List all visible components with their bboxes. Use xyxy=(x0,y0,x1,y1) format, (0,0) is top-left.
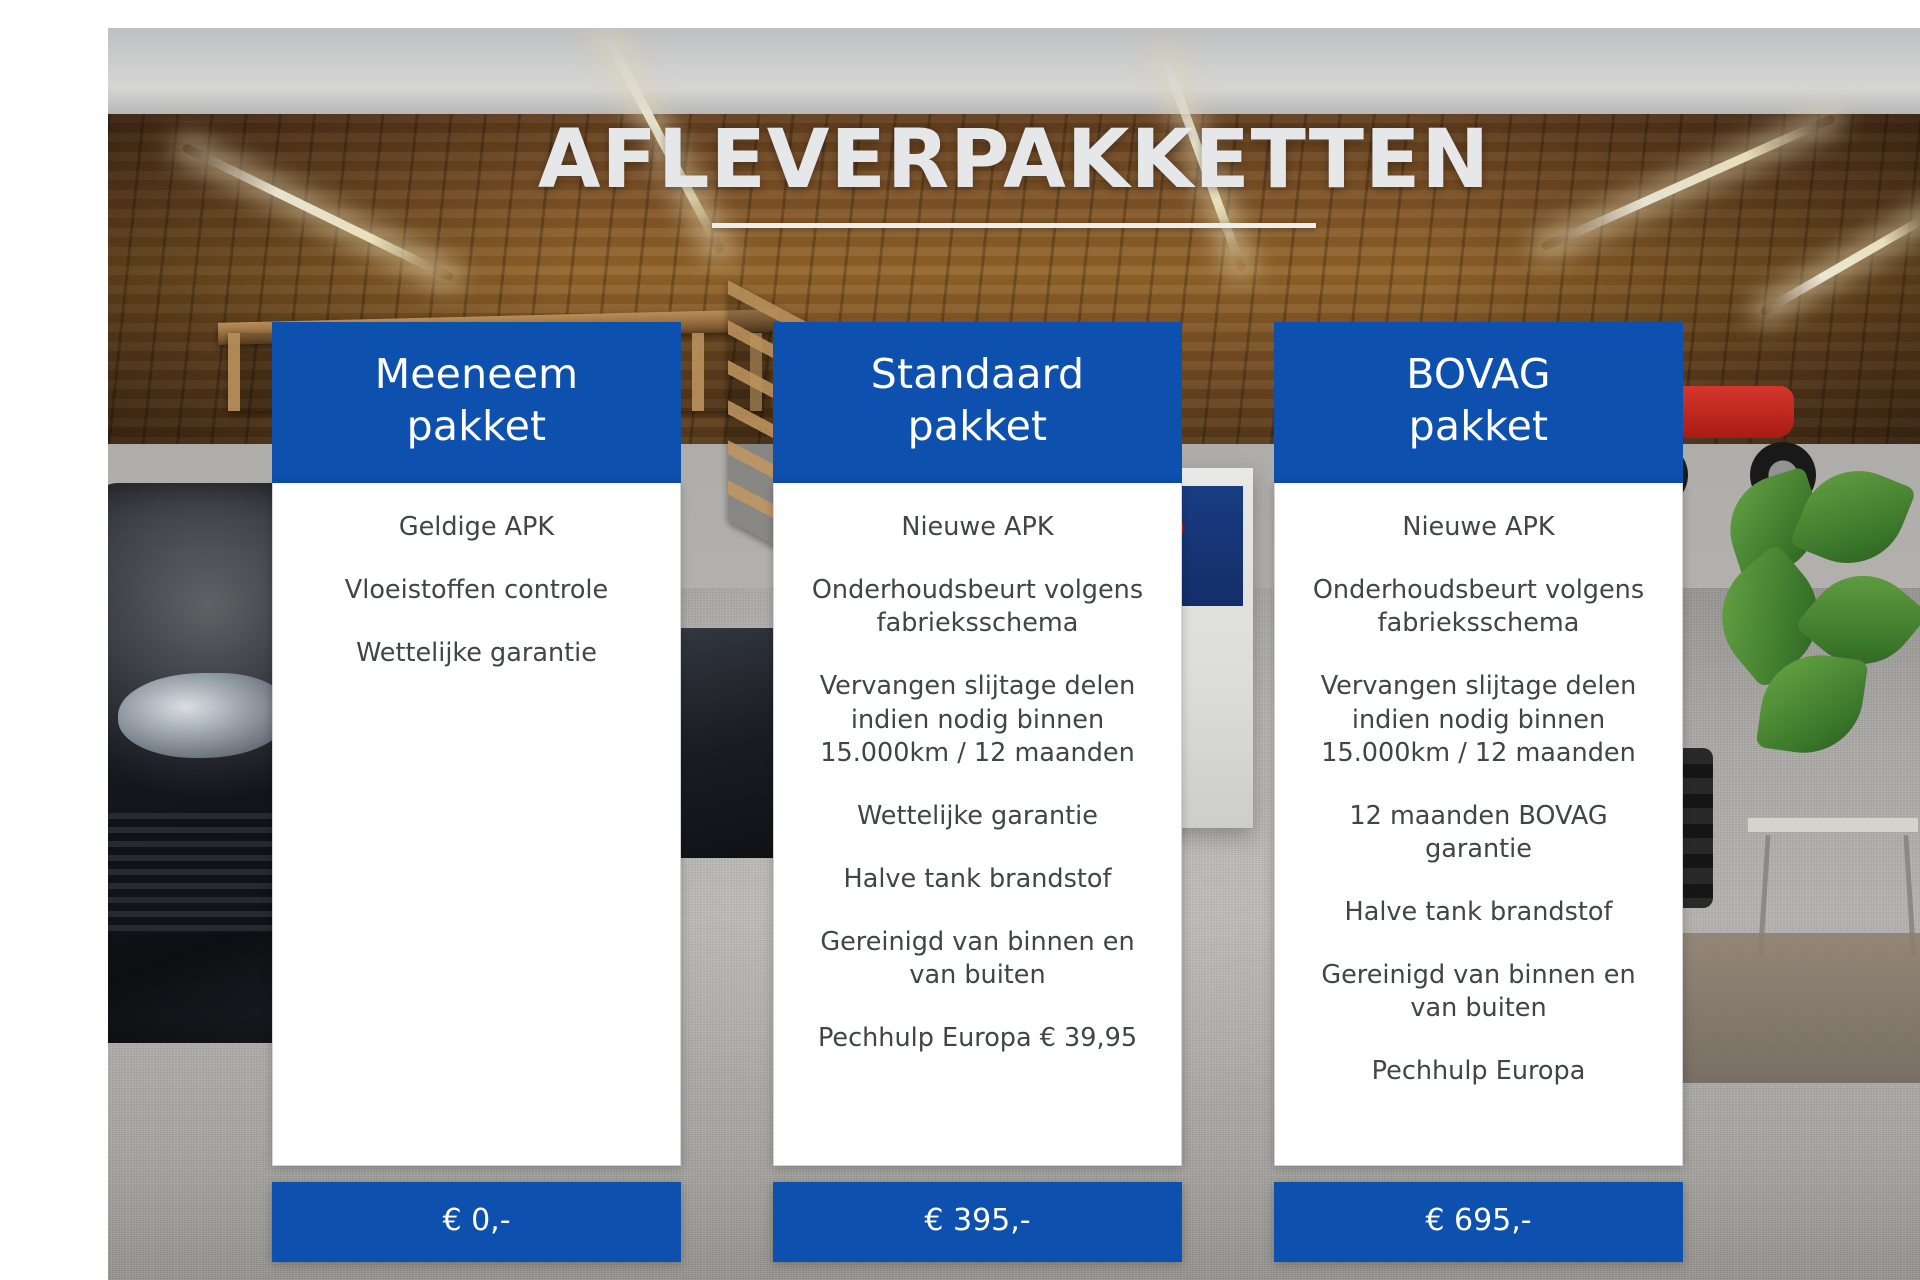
package-feature-list: Geldige APK Vloeistoffen controle Wettel… xyxy=(272,483,681,1166)
package-header: Standaard pakket xyxy=(773,322,1182,483)
poster-stage: AFLEVERPAKKETTEN Meeneem pakket Geldige … xyxy=(0,0,1920,1280)
feature-item: Pechhulp Europa € 39,95 xyxy=(798,1022,1157,1055)
feature-item: Gereinigd van binnen en van buiten xyxy=(1299,959,1658,1025)
background-photo: AFLEVERPAKKETTEN Meeneem pakket Geldige … xyxy=(108,28,1920,1280)
page-title: AFLEVERPAKKETTEN xyxy=(108,120,1920,201)
feature-item: Vervangen slijtage delen indien nodig bi… xyxy=(1299,670,1658,769)
package-card-meeneem[interactable]: Meeneem pakket Geldige APK Vloeistoffen … xyxy=(272,322,681,1262)
package-card-standaard[interactable]: Standaard pakket Nieuwe APK Onderhoudsbe… xyxy=(773,322,1182,1262)
feature-item: Pechhulp Europa xyxy=(1299,1055,1658,1088)
title-block: AFLEVERPAKKETTEN xyxy=(108,120,1920,228)
package-header: BOVAG pakket xyxy=(1274,322,1683,483)
package-header: Meeneem pakket xyxy=(272,322,681,483)
package-feature-list: Nieuwe APK Onderhoudsbeurt volgens fabri… xyxy=(1274,483,1683,1166)
feature-item: Wettelijke garantie xyxy=(297,637,656,670)
package-name-line1: BOVAG xyxy=(1284,348,1673,400)
feature-item: Onderhoudsbeurt volgens fabrieksschema xyxy=(1299,574,1658,640)
feature-item: Halve tank brandstof xyxy=(1299,896,1658,929)
package-cards: Meeneem pakket Geldige APK Vloeistoffen … xyxy=(108,322,1920,1262)
feature-item: Nieuwe APK xyxy=(1299,511,1658,544)
package-price[interactable]: € 695,- xyxy=(1274,1182,1683,1262)
package-name-line2: pakket xyxy=(282,400,671,452)
feature-item: Gereinigd van binnen en van buiten xyxy=(798,926,1157,992)
package-price[interactable]: € 0,- xyxy=(272,1182,681,1262)
package-name-line2: pakket xyxy=(1284,400,1673,452)
package-name-line2: pakket xyxy=(783,400,1172,452)
feature-item: Geldige APK xyxy=(297,511,656,544)
feature-item: Halve tank brandstof xyxy=(798,863,1157,896)
feature-item: Onderhoudsbeurt volgens fabrieksschema xyxy=(798,574,1157,640)
feature-item: Vloeistoffen controle xyxy=(297,574,656,607)
feature-item: Nieuwe APK xyxy=(798,511,1157,544)
feature-item: Wettelijke garantie xyxy=(798,800,1157,833)
package-name-line1: Standaard xyxy=(783,348,1172,400)
ceiling-band xyxy=(108,28,1920,124)
package-price[interactable]: € 395,- xyxy=(773,1182,1182,1262)
package-card-bovag[interactable]: BOVAG pakket Nieuwe APK Onderhoudsbeurt … xyxy=(1274,322,1683,1262)
package-feature-list: Nieuwe APK Onderhoudsbeurt volgens fabri… xyxy=(773,483,1182,1166)
feature-item: Vervangen slijtage delen indien nodig bi… xyxy=(798,670,1157,769)
title-divider xyxy=(712,223,1316,228)
feature-item: 12 maanden BOVAG garantie xyxy=(1299,800,1658,866)
package-name-line1: Meeneem xyxy=(282,348,671,400)
